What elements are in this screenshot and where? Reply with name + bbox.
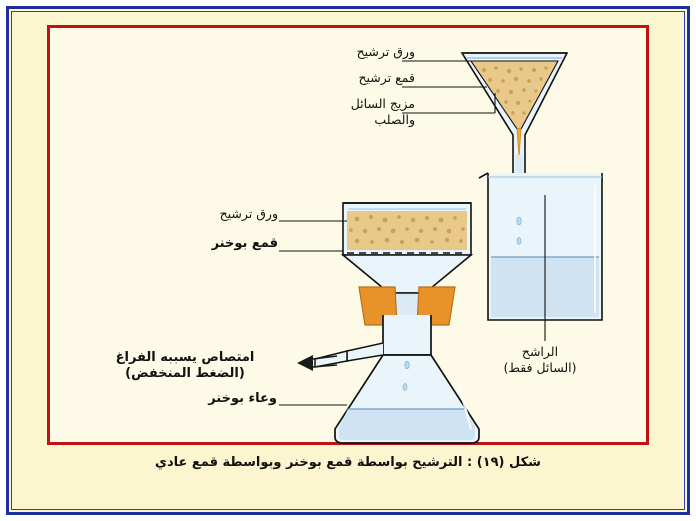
label-filtrate: الراشح (السائل فقط) xyxy=(490,344,590,375)
label-liquid-solid-mixture: مزيج السائل والصلب xyxy=(320,96,415,127)
label-buchner-flask: وعاء بوخنر xyxy=(185,391,277,407)
figure-caption: شكل (١٩) : الترشيح بواسطة قمع بوخنر وبوا… xyxy=(47,455,649,470)
figure-page: ورق ترشيح قمع ترشيح مزيج السائل والصلب و… xyxy=(0,0,696,521)
label-filter-funnel: قمع ترشيح xyxy=(330,70,415,86)
buchner-flask xyxy=(335,315,479,443)
label-buchner-funnel: قمع بوخنر xyxy=(190,236,278,252)
label-filter-paper-mid: ورق ترشيح xyxy=(190,206,278,222)
flask-side-arm xyxy=(315,343,383,367)
label-filter-paper-top: ورق ترشيح xyxy=(330,44,415,60)
label-suction-vacuum: امتصاص يسببه الفراغ (الضغط المنخفض) xyxy=(85,350,285,383)
receiving-beaker xyxy=(479,173,602,320)
